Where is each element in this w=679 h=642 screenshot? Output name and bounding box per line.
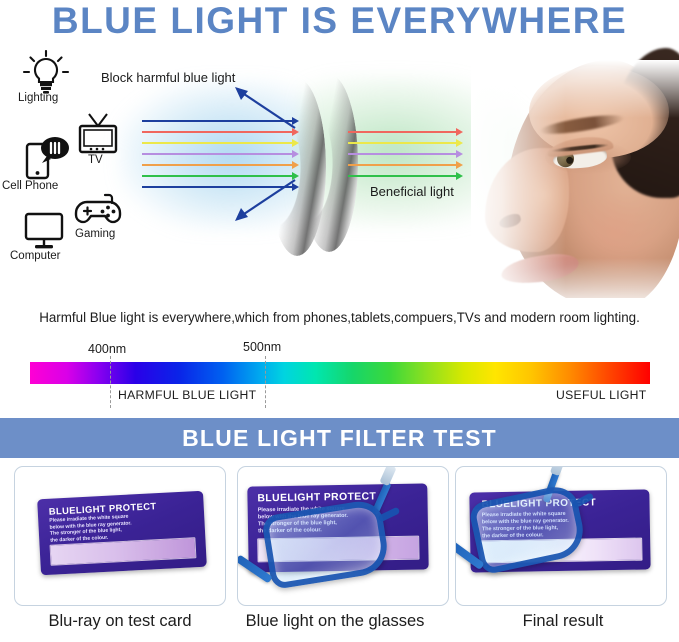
face-fade-bottom [471, 258, 679, 298]
outgoing-ray-red [348, 131, 456, 133]
tick-label-400nm: 400nm [88, 342, 126, 356]
outgoing-ray-purple [348, 153, 456, 155]
harmful-blue-light-sentence: Harmful Blue light is everywhere,which f… [0, 310, 679, 325]
source-label-tv: TV [88, 154, 103, 166]
outgoing-ray-orange [348, 164, 456, 166]
reflected-blue-arrow-up [232, 84, 300, 132]
tick-label-500nm: 500nm [243, 340, 281, 354]
eyeglass-lens-front [300, 74, 358, 252]
glasses-lens-frame [261, 498, 391, 590]
source-label-gaming: Gaming [75, 228, 115, 240]
game-controller-icon [74, 190, 122, 232]
glasses-bridge [572, 492, 595, 509]
test-card-blue-light-on-glasses[interactable]: BLUELIGHT PROTECT Please irradiate the w… [237, 466, 449, 606]
spectrum-gradient-bar [30, 362, 650, 384]
band-label-harmful-blue-light: HARMFUL BLUE LIGHT [118, 388, 256, 402]
test-card-bluray-on-test-card[interactable]: BLUELIGHT PROTECT Please irradiate the w… [14, 466, 226, 606]
page-title: BLUE LIGHT IS EVERYWHERE [0, 0, 679, 42]
section-banner: BLUE LIGHT FILTER TEST [0, 418, 679, 458]
cell-phone-icon [22, 134, 70, 180]
band-label-useful-light: USEFUL LIGHT [556, 388, 647, 402]
blue-light-glasses [238, 467, 449, 606]
outgoing-ray-yellow [348, 142, 456, 144]
glasses-temple-tip [379, 466, 396, 486]
card-caption-final-result: Final result [457, 612, 669, 631]
desktop-monitor-icon [20, 210, 68, 252]
face-photo [439, 42, 679, 298]
filter-test-cards: BLUELIGHT PROTECT Please irradiate the w… [0, 466, 679, 642]
card-caption-blue-light-on-glasses: Blue light on the glasses [229, 612, 441, 631]
test-card-final-result[interactable]: BLUELIGHT PROTECT Please irradiate the w… [455, 466, 667, 606]
infographic-page: BLUE LIGHT IS EVERYWHERE [0, 0, 679, 642]
source-label-lighting: Lighting [18, 92, 58, 104]
blue-light-glasses [456, 467, 667, 606]
banner-title: BLUE LIGHT FILTER TEST [182, 425, 497, 452]
outgoing-ray-green [348, 175, 456, 177]
incoming-ray-purple [142, 153, 292, 155]
television-icon [76, 112, 120, 158]
light-bulb-icon [22, 50, 70, 94]
bluelight-protect-card: BLUELIGHT PROTECT Please irradiate the w… [37, 491, 207, 576]
source-label-computer: Computer [10, 250, 61, 262]
face-fade-top [471, 60, 679, 118]
reflected-blue-arrow-down [232, 176, 300, 224]
tick-500nm [265, 356, 266, 408]
incoming-ray-orange [142, 164, 292, 166]
glasses-bridge [378, 507, 401, 523]
tick-400nm [110, 356, 111, 408]
hero-illustration: Lighting TV C [0, 42, 679, 298]
spectrum-chart: 400nm 500nm HARMFUL BLUE LIGHT USEFUL LI… [0, 344, 679, 406]
incoming-ray-yellow [142, 142, 292, 144]
test-card-body: Please irradiate the white square below … [49, 513, 132, 543]
beneficial-light-label: Beneficial light [370, 184, 454, 199]
glasses-lens-frame [468, 483, 589, 576]
source-label-cellphone: Cell Phone [2, 180, 58, 192]
card-caption-bluray-on-test-card: Blu-ray on test card [14, 612, 226, 631]
block-harmful-blue-light-label: Block harmful blue light [101, 70, 235, 85]
